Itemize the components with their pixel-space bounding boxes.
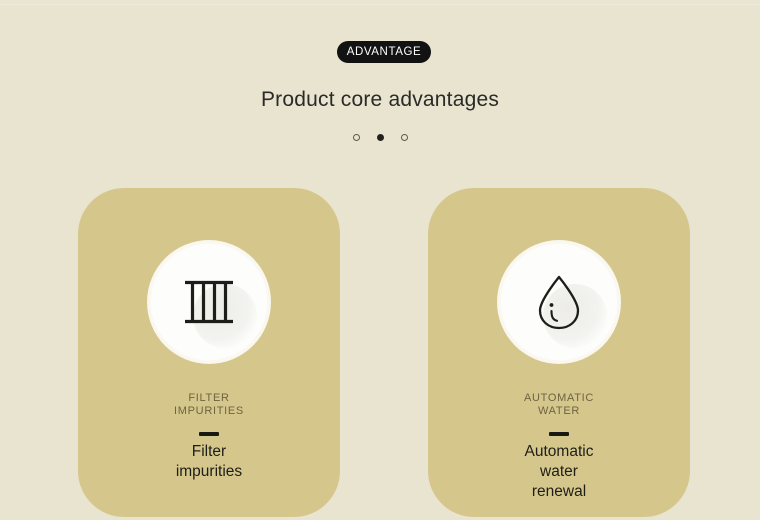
card-caption-upper-line: WATER <box>428 405 690 418</box>
card-caption-upper: AUTOMATIC WATER <box>428 392 690 418</box>
pagination-dot-1[interactable] <box>353 134 360 141</box>
card-caption-upper: FILTER IMPURITIES <box>78 392 340 418</box>
card-caption-main-line: Filter <box>78 442 340 462</box>
section-background: ADVANTAGE Product core advantages <box>0 4 760 521</box>
card-divider <box>549 432 569 436</box>
card-caption-upper-line: IMPURITIES <box>78 405 340 418</box>
card-caption-main-line: Automatic <box>428 442 690 462</box>
card-caption-main-line: water <box>428 462 690 482</box>
card-caption-main-line: impurities <box>78 462 340 482</box>
card-caption-upper-line: FILTER <box>78 392 340 405</box>
card-divider <box>199 432 219 436</box>
filter-grate-icon <box>180 273 238 331</box>
pagination-dot-3[interactable] <box>401 134 408 141</box>
advantage-badge: ADVANTAGE <box>337 41 431 63</box>
advantage-card-filter-impurities[interactable]: FILTER IMPURITIES Filter impurities <box>78 188 340 517</box>
card-caption-upper-line: AUTOMATIC <box>428 392 690 405</box>
icon-badge-water <box>497 240 621 364</box>
pagination-dot-2-active[interactable] <box>377 134 384 141</box>
water-droplet-icon <box>533 272 585 332</box>
bottom-white-strip <box>0 520 760 529</box>
card-caption-main-line: renewal <box>428 482 690 502</box>
card-caption-main: Filter impurities <box>78 442 340 482</box>
card-caption-main: Automatic water renewal <box>428 442 690 502</box>
advantage-section: ADVANTAGE Product core advantages <box>0 0 760 529</box>
icon-badge-filter <box>147 240 271 364</box>
advantage-card-list: FILTER IMPURITIES Filter impurities <box>0 188 760 518</box>
advantage-card-automatic-water[interactable]: AUTOMATIC WATER Automatic water renewal <box>428 188 690 517</box>
page-title: Product core advantages <box>0 88 760 112</box>
pagination-dots <box>0 134 760 141</box>
